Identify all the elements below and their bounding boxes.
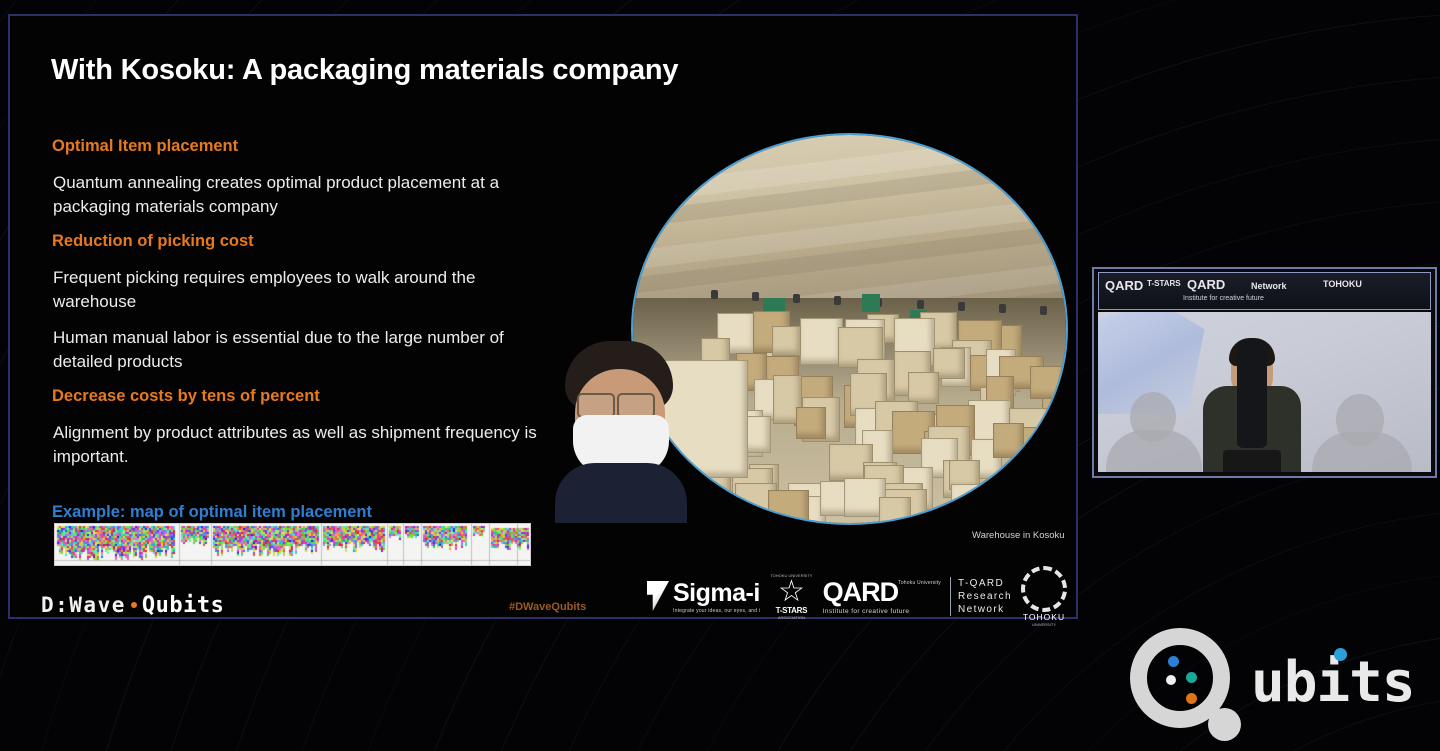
dwave-qubits-logo: D:Wave Qubits	[41, 592, 224, 618]
presentation-slide: With Kosoku: A packaging materials compa…	[8, 14, 1078, 619]
section-heading-reduction-of-picking-cost: Reduction of picking cost	[52, 232, 254, 251]
projected-logo-qard: QARD	[1105, 278, 1143, 293]
optimal-item-placement-map	[54, 523, 531, 566]
qubits-watermark-logo: ubits	[1124, 618, 1424, 736]
section-body-optimal-item-placement: Quantum annealing creates optimal produc…	[53, 171, 533, 219]
projection-screen	[1098, 312, 1431, 472]
qard-super: Tohoku University	[898, 580, 941, 586]
person-overlay-avatar	[555, 341, 685, 516]
qard-tagline: Institute for creative future	[823, 608, 910, 615]
projected-slide-strip: QARD T-STARS QARD Network TOHOKU Institu…	[1098, 272, 1431, 310]
shadow-silhouette-body-right	[1312, 432, 1412, 472]
section-body-manual-labor: Human manual labor is essential due to t…	[53, 326, 523, 374]
qubit-dot-teal	[1186, 672, 1197, 683]
sponsor-qard: QARD Tohoku University Institute for cre…	[823, 577, 941, 615]
shadow-silhouette-body-left	[1106, 430, 1202, 472]
t-qard-line3: Network	[958, 603, 1004, 616]
sponsor-t-qard-network: T-QARD Research Network	[950, 577, 1012, 616]
tohoku-name: TOHOKU	[1023, 612, 1065, 622]
warehouse-photo	[631, 133, 1068, 525]
photo-caption: Warehouse in Kosoku	[972, 530, 1065, 541]
sponsor-tohoku: TOHOKU UNIVERSITY	[1021, 566, 1067, 627]
qubit-dot-orange	[1186, 693, 1197, 704]
sigma-i-mark-icon	[647, 581, 669, 611]
qubit-dot-white	[1166, 675, 1176, 685]
projected-logo-network: Network	[1251, 281, 1287, 291]
section-heading-optimal-item-placement: Optimal Item placement	[52, 137, 238, 156]
projected-logo-t-stars: T-STARS	[1147, 279, 1181, 288]
screen-root: With Kosoku: A packaging materials compa…	[0, 0, 1440, 751]
qubits-ring-tail-icon	[1208, 708, 1241, 741]
projected-logo-qard-2: QARD	[1187, 277, 1225, 292]
t-qard-line2: Research	[958, 590, 1012, 603]
event-hashtag: #DWaveQubits	[509, 601, 586, 613]
t-stars-name: T-STARS	[776, 606, 808, 615]
qard-name: QARD	[823, 577, 899, 608]
sigma-i-tagline: Integrate your ideas, our eyes, and i	[673, 608, 760, 614]
qubits-i-dot-icon	[1334, 648, 1347, 661]
qubits-wordmark: Qubits	[142, 593, 224, 618]
projected-logo-tohoku: TOHOKU	[1323, 279, 1362, 289]
speaker-video-feed[interactable]: QARD T-STARS QARD Network TOHOKU Institu…	[1092, 267, 1437, 478]
slide-title: With Kosoku: A packaging materials compa…	[51, 54, 678, 87]
section-body-picking-cost: Frequent picking requires employees to w…	[53, 266, 543, 314]
sponsor-logo-row: Sigma-i Integrate your ideas, our eyes, …	[647, 568, 1067, 624]
sponsor-t-stars: TOHOKU UNIVERSITY ☆ T-STARS ASSOCIATION	[769, 573, 813, 620]
example-map-label: Example: map of optimal item placement	[52, 503, 372, 522]
tohoku-sub: UNIVERSITY	[1032, 622, 1056, 627]
projected-tagline: Institute for creative future	[1183, 295, 1264, 302]
t-stars-sub-bottom: ASSOCIATION	[778, 615, 805, 620]
sigma-i-name: Sigma-i	[673, 579, 760, 608]
sponsor-sigma-i: Sigma-i Integrate your ideas, our eyes, …	[647, 579, 760, 614]
section-body-alignment: Alignment by product attributes as well …	[53, 421, 543, 469]
logo-separator-dot	[131, 602, 137, 608]
star-icon: ☆	[778, 578, 805, 606]
section-heading-decrease-costs: Decrease costs by tens of percent	[52, 387, 320, 406]
dwave-wordmark: D:Wave	[41, 593, 126, 617]
qubits-wordmark-text: ubits	[1251, 650, 1415, 715]
t-qard-line1: T-QARD	[958, 577, 1004, 590]
qubit-dot-blue	[1168, 656, 1179, 667]
tohoku-seal-icon	[1021, 566, 1067, 612]
